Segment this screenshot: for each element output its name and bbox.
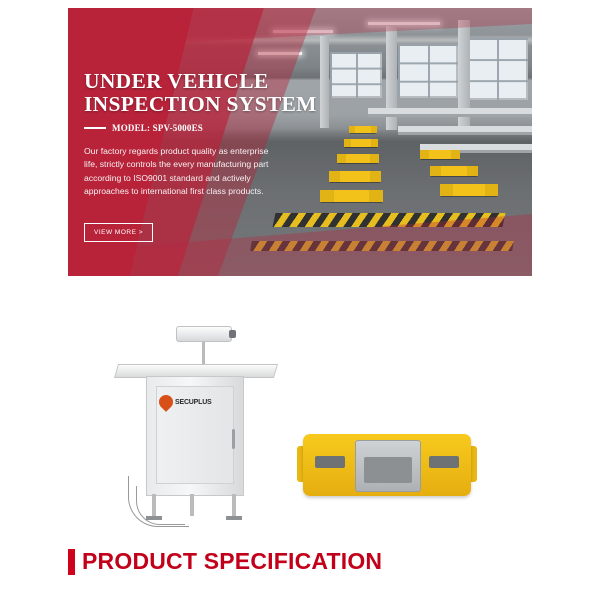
scanner-unit bbox=[440, 184, 498, 196]
camera-icon bbox=[176, 326, 232, 342]
hero-title-line2: INSPECTION SYSTEM bbox=[84, 93, 319, 116]
scanner-center-module bbox=[355, 440, 421, 492]
hero-banner: UNDER VEHICLE INSPECTION SYSTEM MODEL: S… bbox=[68, 8, 532, 276]
ceiling-lamp-icon bbox=[368, 22, 440, 25]
section-accent-bar bbox=[68, 549, 75, 575]
product-photo-area: SECUPLUS bbox=[68, 284, 532, 534]
product-specification-section: PRODUCT SPECIFICATION bbox=[68, 548, 532, 575]
dash-icon bbox=[84, 127, 106, 129]
ceiling-lamp-icon bbox=[258, 52, 302, 55]
cabinet-leg bbox=[232, 494, 236, 516]
brand-name: SECUPLUS bbox=[175, 399, 212, 406]
scanner-unit bbox=[349, 126, 377, 133]
workbench-row bbox=[398, 126, 532, 136]
scanner-unit bbox=[320, 190, 383, 202]
scanner-plate bbox=[303, 434, 471, 496]
hero-model-row: MODEL: SPV-5000ES bbox=[84, 123, 319, 133]
workbench-row bbox=[368, 108, 532, 118]
scanner-unit bbox=[337, 154, 379, 163]
scanner-unit bbox=[344, 139, 378, 147]
scanner-product bbox=[303, 434, 471, 496]
ceiling-lamp-icon bbox=[273, 30, 333, 33]
scanner-unit bbox=[420, 150, 460, 159]
scanner-side-module-right bbox=[429, 456, 459, 468]
view-more-button[interactable]: VIEW MORE > bbox=[84, 223, 153, 242]
cable-bundle bbox=[136, 486, 185, 525]
brand-mark-icon bbox=[156, 392, 176, 412]
scanner-sensor-window bbox=[364, 457, 412, 483]
scanner-unit bbox=[329, 171, 381, 182]
hazard-stripe-ramp bbox=[250, 241, 514, 251]
control-cabinet: SECUPLUS bbox=[140, 326, 252, 501]
cabinet-logo: SECUPLUS bbox=[159, 395, 212, 409]
pillar bbox=[320, 36, 329, 128]
hero-model-text: MODEL: SPV-5000ES bbox=[112, 123, 203, 133]
window bbox=[330, 52, 382, 98]
cabinet-handle bbox=[232, 429, 235, 449]
hero-description: Our factory regards product quality as e… bbox=[84, 145, 280, 199]
cabinet-foot bbox=[226, 516, 242, 520]
window bbox=[398, 44, 458, 98]
cabinet-leg bbox=[190, 494, 194, 516]
hero-text-block: UNDER VEHICLE INSPECTION SYSTEM MODEL: S… bbox=[84, 70, 319, 242]
section-heading: PRODUCT SPECIFICATION bbox=[82, 548, 382, 575]
camera-lens-icon bbox=[229, 330, 236, 338]
window bbox=[466, 38, 528, 100]
scanner-unit bbox=[430, 166, 478, 176]
scanner-side-module-left bbox=[315, 456, 345, 468]
hero-title-line1: UNDER VEHICLE bbox=[84, 70, 319, 93]
